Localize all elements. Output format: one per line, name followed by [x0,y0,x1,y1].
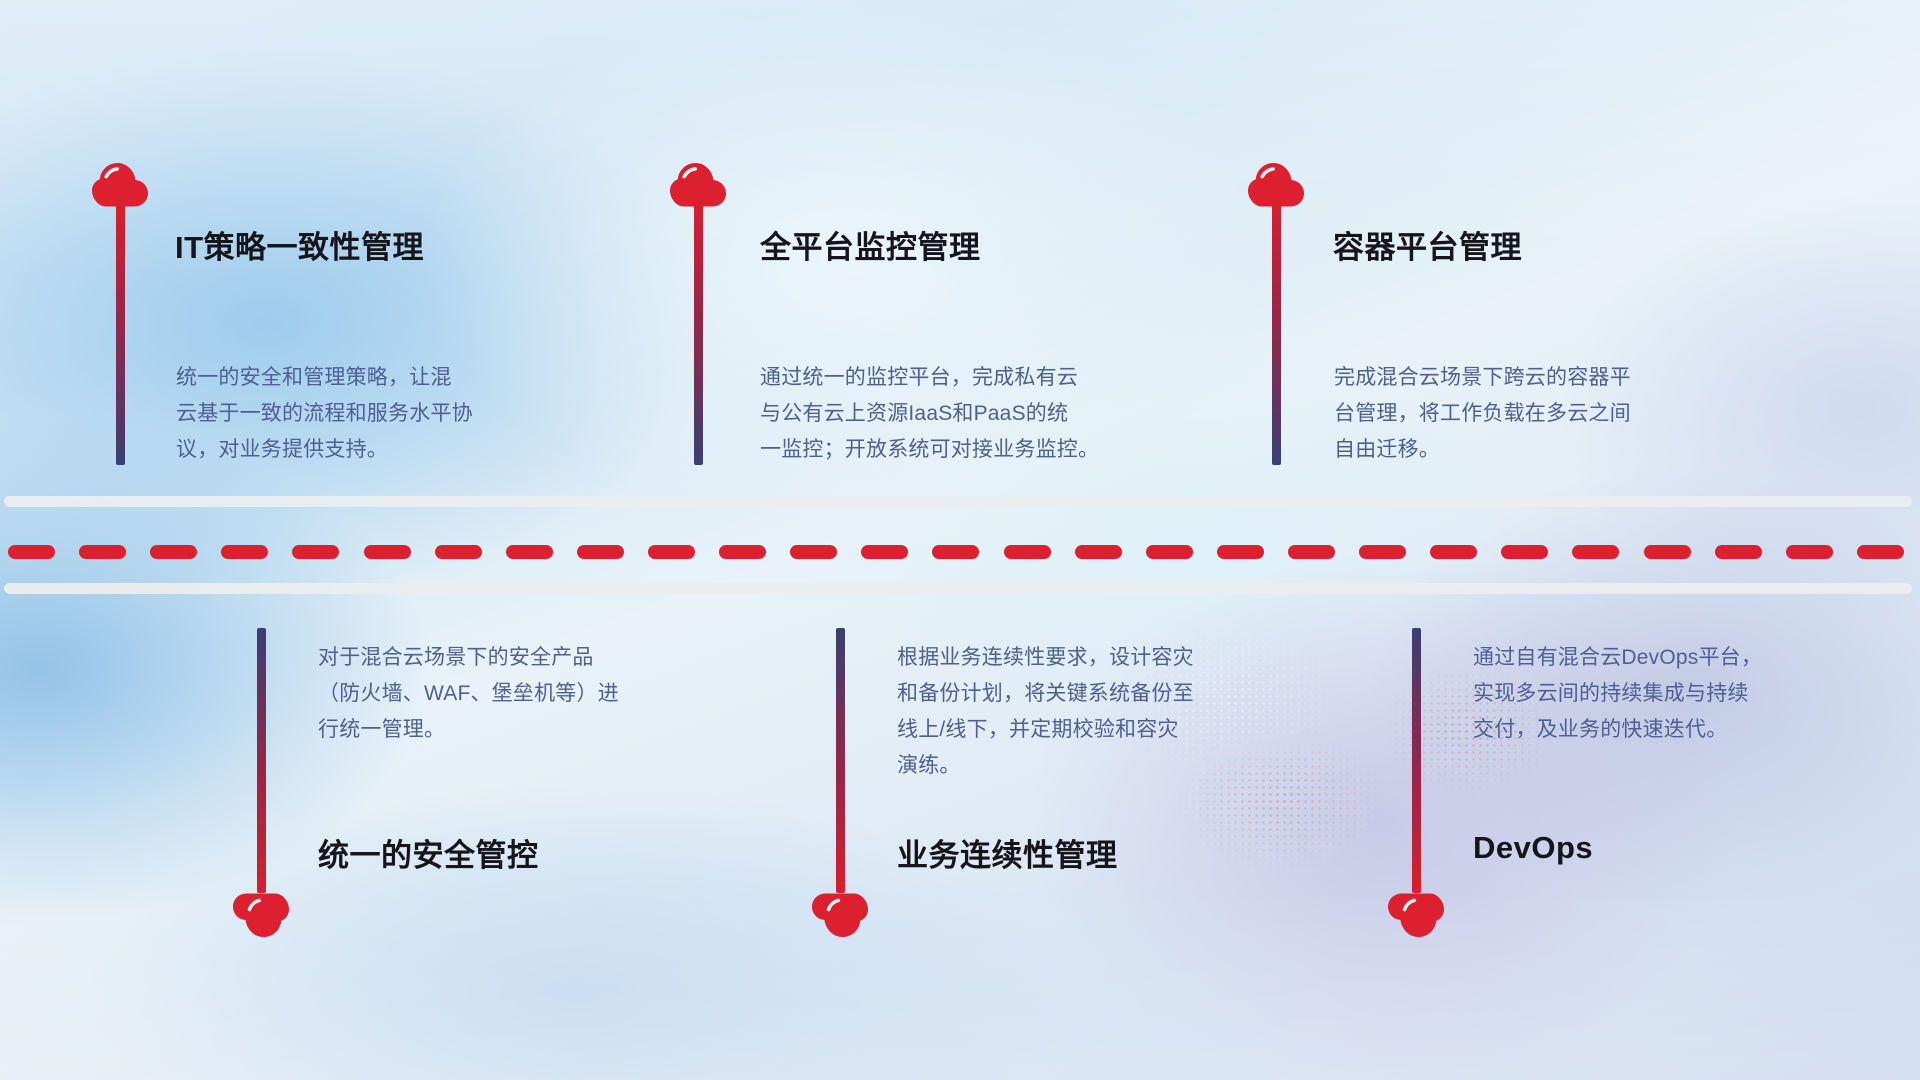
card-body: 统一的安全和管理策略，让混 云基于一致的流程和服务水平协 议，对业务提供支持。 [176,360,616,468]
divider-line-upper [4,496,1912,507]
divider-line-lower [4,583,1912,594]
card-body: 完成混合云场景下跨云的容器平 台管理，将工作负载在多云之间 自由迁移。 [1334,360,1774,468]
dash-segment [1715,545,1762,559]
cloud-icon [812,893,868,937]
dash-segment [1004,545,1051,559]
stem-connector [257,628,266,893]
stem-connector [1272,200,1281,465]
cloud-icon [1388,893,1444,937]
dash-segment [1572,545,1619,559]
dash-segment [648,545,695,559]
dash-segment [790,545,837,559]
dash-segment [435,545,482,559]
card-body: 通过自有混合云DevOps平台， 实现多云间的持续集成与持续 交付，及业务的快速… [1473,640,1893,748]
dash-segment [932,545,979,559]
dash-segment [861,545,908,559]
dash-segment [1786,545,1833,559]
dash-segment [1501,545,1548,559]
card-title: 统一的安全管控 [318,830,539,875]
dash-segment [506,545,553,559]
dash-segment [79,545,126,559]
stem-connector [116,200,125,465]
card-body: 根据业务连续性要求，设计容灾 和备份计划，将关键系统备份至 线上/线下，并定期校… [897,640,1327,784]
card-title: IT策略一致性管理 [175,222,424,267]
card-title: 容器平台管理 [1333,222,1522,267]
dash-segment [719,545,766,559]
stem-connector [1412,628,1421,893]
card-body: 对于混合云场景下的安全产品 （防火墙、WAF、堡垒机等）进 行统一管理。 [318,640,738,748]
dash-segment [1146,545,1193,559]
dash-segment [8,545,55,559]
dash-segment [577,545,624,559]
card-title: 全平台监控管理 [760,222,981,267]
card-body: 通过统一的监控平台，完成私有云 与公有云上资源IaaS和PaaS的统 一监控；开… [760,360,1220,468]
dashed-separator [0,545,1920,559]
cloud-icon [233,893,289,937]
stem-connector [694,200,703,465]
card-title: DevOps [1473,830,1593,866]
dash-segment [1288,545,1335,559]
dash-segment [292,545,339,559]
card-title: 业务连续性管理 [897,830,1118,875]
dash-segment [1075,545,1122,559]
stem-connector [836,628,845,893]
dash-segment [1644,545,1691,559]
infographic-canvas: IT策略一致性管理 统一的安全和管理策略，让混 云基于一致的流程和服务水平协 议… [0,0,1920,1080]
dash-segment [1359,545,1406,559]
dash-segment [1857,545,1904,559]
dash-segment [1430,545,1477,559]
dash-segment [150,545,197,559]
dash-segment [221,545,268,559]
dash-segment [364,545,411,559]
dash-segment [1217,545,1264,559]
